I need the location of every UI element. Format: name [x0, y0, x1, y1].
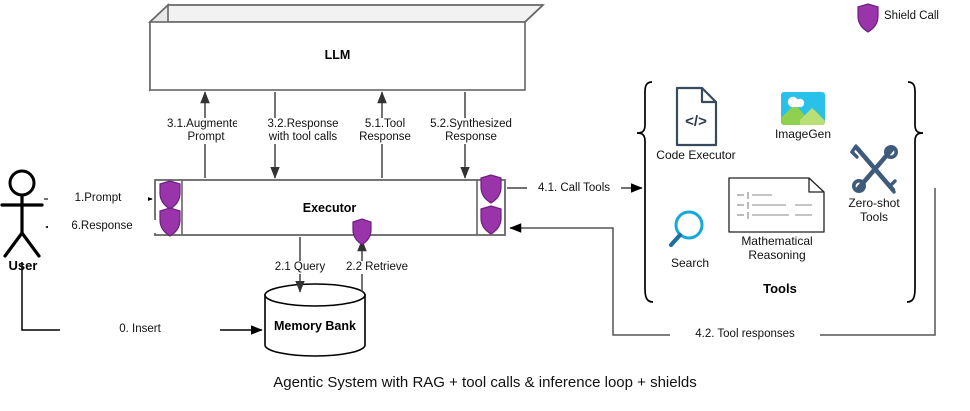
- edge-label-synthesized-response: 5.2.Synthesized Response: [412, 118, 530, 144]
- shield-icon-legend: [858, 4, 878, 32]
- tool-label-search: Search: [650, 256, 730, 270]
- tool-label-code-executor: Code Executor: [645, 148, 747, 162]
- edge-label-tool-responses: 4.2. Tool responses: [670, 328, 820, 341]
- legend-shield-label: Shield Call: [884, 10, 968, 23]
- math-document-icon: [729, 178, 824, 232]
- tool-label-zero-shot-tools: Zero-shot Tools: [838, 196, 910, 224]
- user-actor: [2, 171, 42, 256]
- image-gen-icon: [781, 92, 825, 125]
- code-document-icon: </>: [677, 88, 716, 145]
- llm-label: LLM: [150, 48, 525, 62]
- diagram-canvas: </>: [0, 0, 970, 411]
- shield-icon-memory: [353, 219, 371, 245]
- tools-group-label: Tools: [700, 281, 860, 296]
- memory-bank-label: Memory Bank: [265, 319, 365, 333]
- user-label: User: [0, 258, 46, 273]
- tool-label-mathematical-reasoning: Mathematical Reasoning: [726, 234, 828, 262]
- tool-label-imagegen: ImageGen: [758, 127, 848, 141]
- edge-label-prompt: 1.Prompt: [48, 192, 148, 205]
- edge-label-insert: 0. Insert: [60, 323, 220, 336]
- tools-brace-right: [907, 82, 923, 302]
- crossed-wrenches-icon: [852, 146, 896, 192]
- executor-label: Executor: [182, 201, 477, 215]
- edge-label-query: 2.1 Query: [262, 261, 338, 274]
- edge-label-retrieve: 2.2 Retrieve: [334, 261, 420, 274]
- edge-label-call-tools: 4.1. Call Tools: [527, 182, 621, 195]
- edge-insert: [22, 262, 262, 330]
- svg-text:</>: </>: [685, 113, 707, 130]
- magnifier-icon: [671, 212, 702, 245]
- edge-label-response: 6.Response: [48, 220, 156, 233]
- diagram-caption: Agentic System with RAG + tool calls & i…: [0, 374, 970, 391]
